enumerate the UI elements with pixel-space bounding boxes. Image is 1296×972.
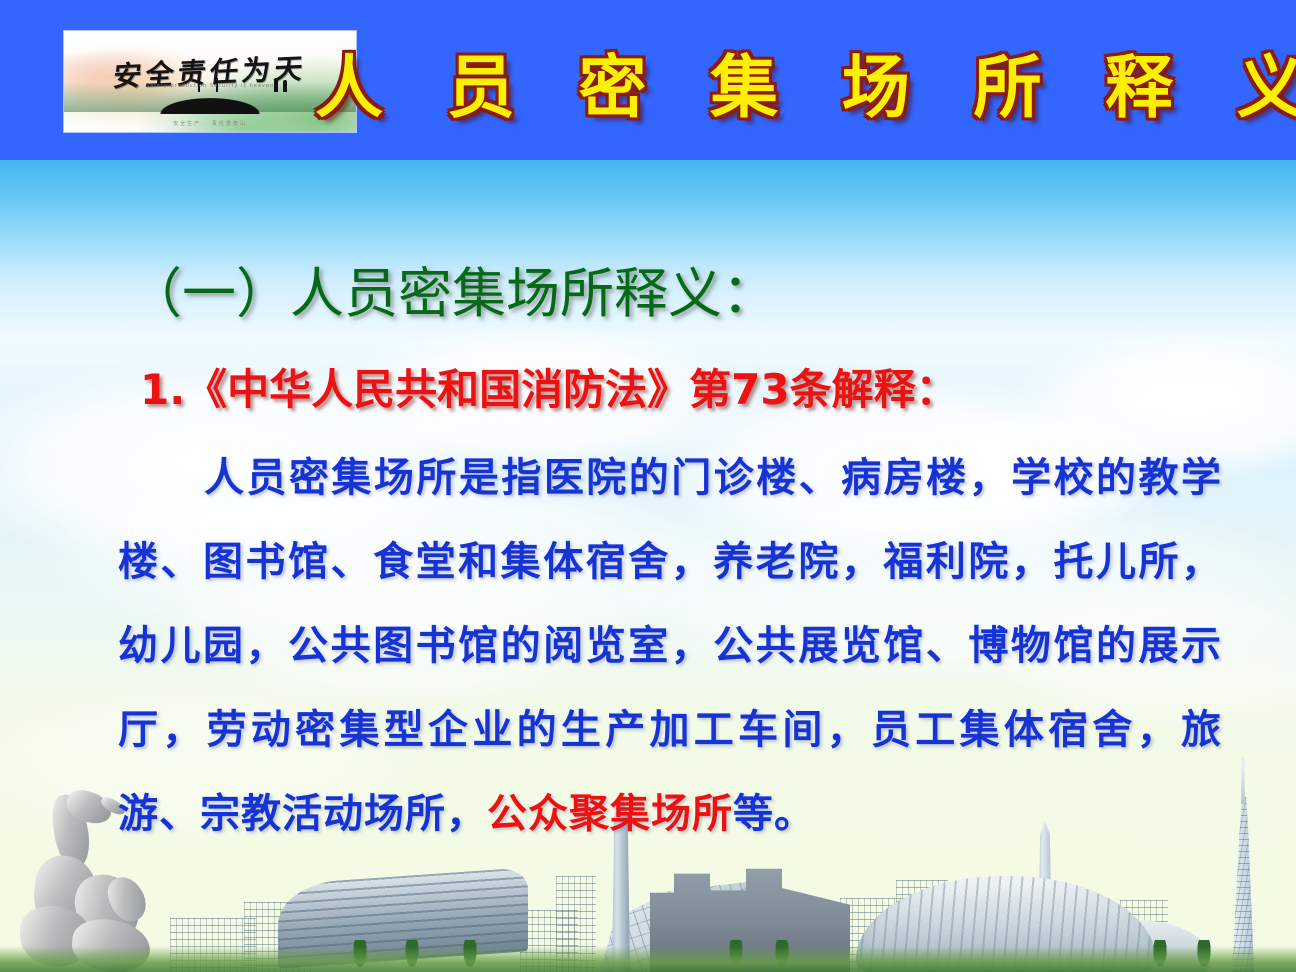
logo-latin-subtitle: Safety production Security is heaven	[64, 83, 356, 89]
section-heading: （一）人员密集场所释义：	[128, 249, 776, 328]
header-banner: 安全责任为天 Safety production Security is hea…	[0, 0, 1296, 160]
definition-paragraph: 人员密集场所是指医院的门诊楼、病房楼，学校的教学楼、图书馆、食堂和集体宿舍，养老…	[118, 436, 1222, 856]
slide-canvas: 安全责任为天 Safety production Security is hea…	[0, 0, 1296, 972]
logo-footer-text: 安全生产 · 责任重泰山	[64, 120, 356, 127]
paragraph-run: 人员密集场所是指医院的门诊楼、病房楼，学校的教学楼、图书馆、食堂和集体宿舍，养老…	[118, 455, 1222, 837]
page-title: 人 员 密 集 场 所 释 义	[380, 33, 1260, 129]
law-article-heading: 1.《中华人民共和国消防法》第73条解释：	[140, 356, 958, 417]
safety-poster-logo: 安全责任为天 Safety production Security is hea…	[64, 31, 356, 132]
paragraph-run: 等。	[733, 791, 815, 837]
highlighted-term: 公众聚集场所	[487, 791, 733, 837]
